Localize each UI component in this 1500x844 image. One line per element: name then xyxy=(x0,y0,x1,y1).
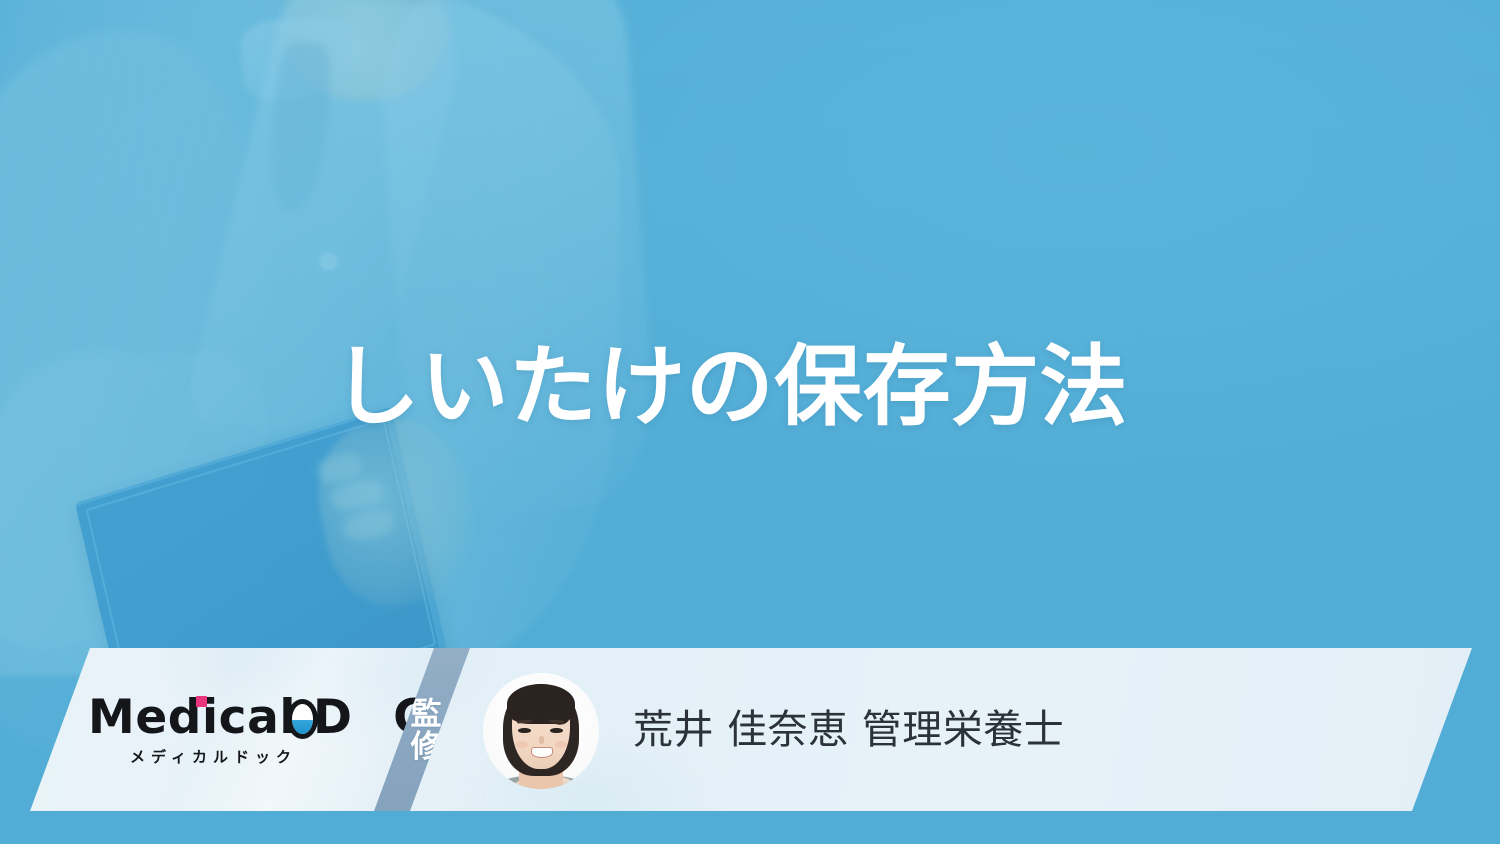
logo-wordmark: Medical DOC xyxy=(88,694,428,741)
logo-wordmark-text-2: cal D xyxy=(219,690,353,745)
logo-pill-o-icon xyxy=(287,699,318,739)
avatar-nose xyxy=(539,736,544,744)
avatar-mouth xyxy=(531,747,553,758)
avatar-cheek-left xyxy=(516,741,528,748)
avatar-eye-right xyxy=(550,728,563,733)
medical-doc-logo[interactable]: Medical DOC メディカルドック xyxy=(88,694,378,774)
thumbnail-canvas: しいたけの保存方法 Medical DOC メディカルドック 監修 荒井 佳 xyxy=(0,0,1500,844)
avatar xyxy=(483,673,599,789)
supervisor-name: 荒井 佳奈恵 管理栄養士 xyxy=(633,708,1064,752)
logo-accent-dot-icon xyxy=(196,696,207,707)
page-title: しいたけの保存方法 xyxy=(332,338,1342,437)
avatar-eye-left xyxy=(518,728,531,733)
logo-subtitle: メディカルドック xyxy=(130,746,297,767)
logo-wordmark-text: Med xyxy=(88,690,202,745)
avatar-cheek-right xyxy=(555,741,567,748)
avatar-hair-front xyxy=(507,684,575,724)
